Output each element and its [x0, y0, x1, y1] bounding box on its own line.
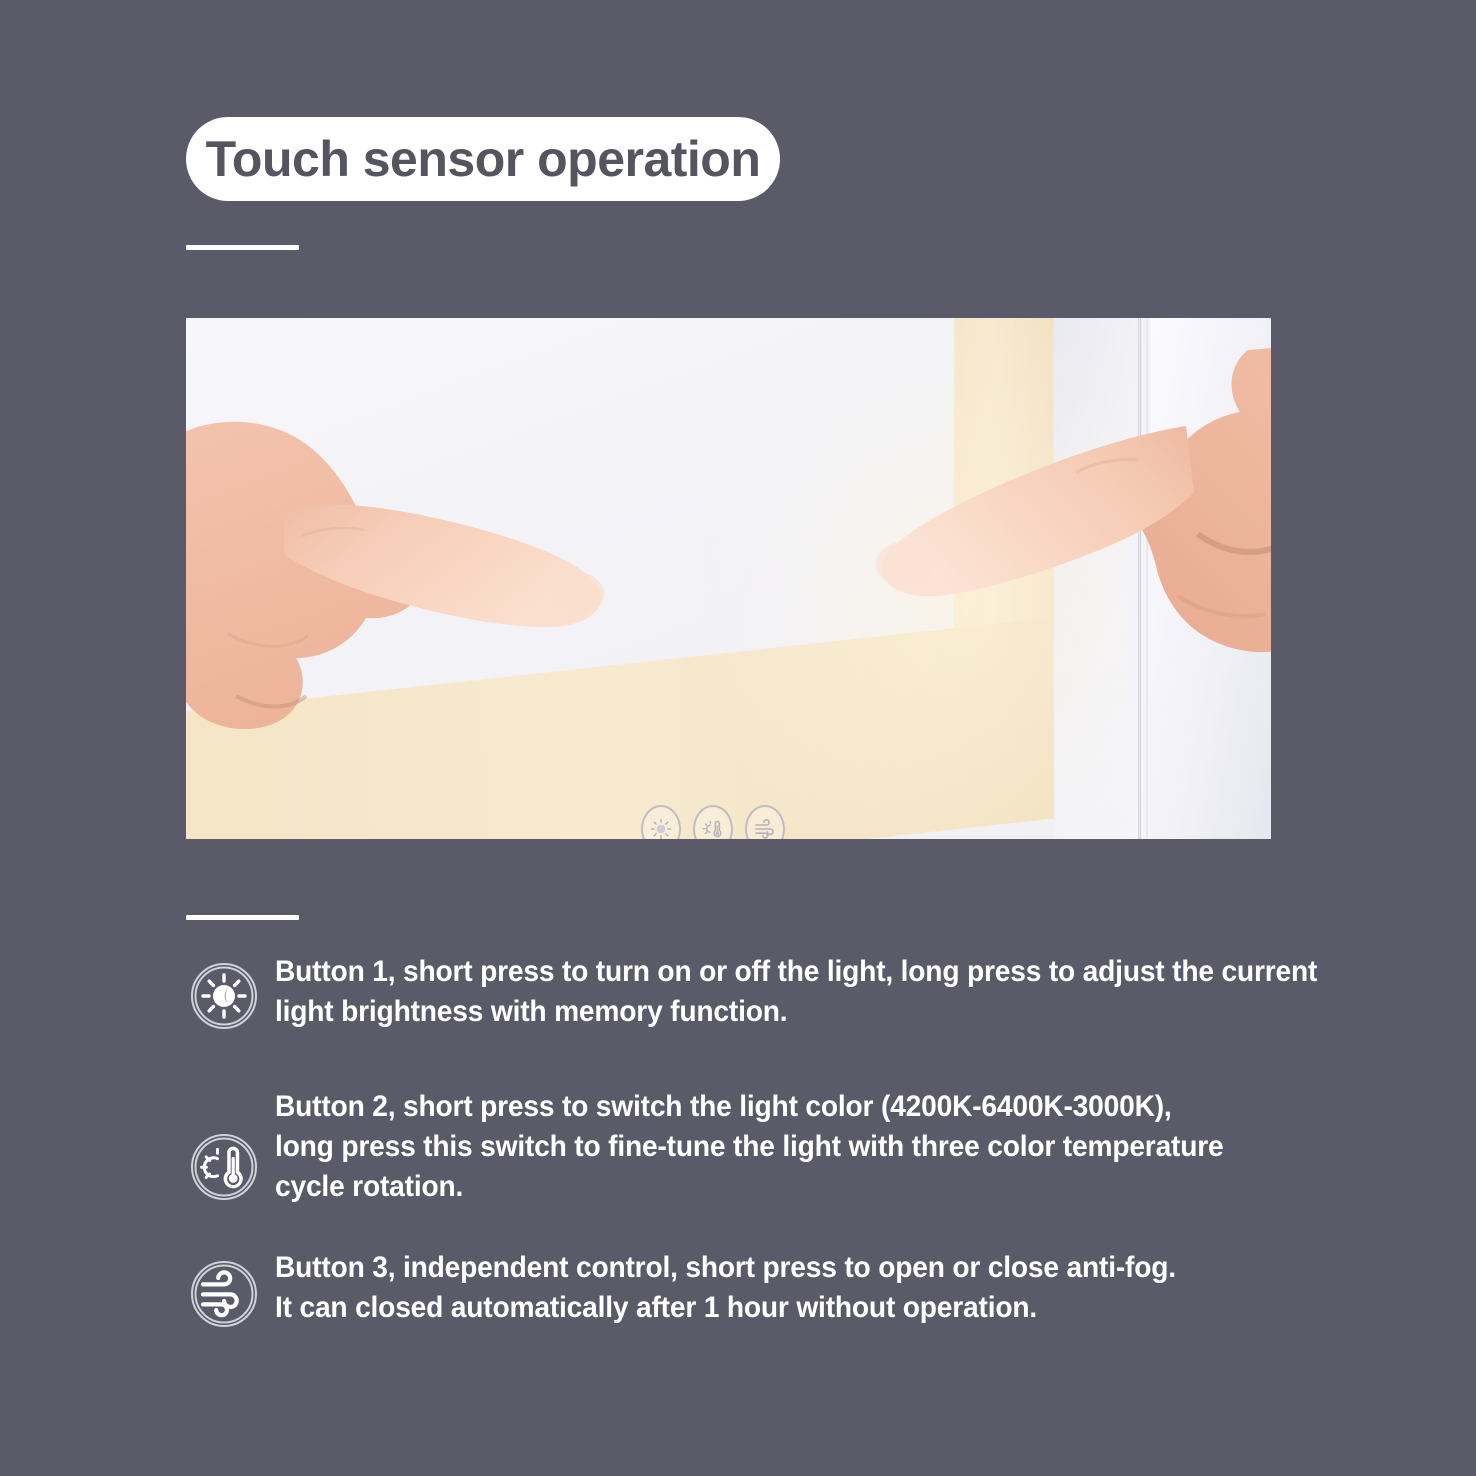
instruction-line: Button 1, short press to turn on or off … [275, 952, 1297, 992]
instruction-line: Button 2, short press to switch the ligh… [275, 1087, 1224, 1127]
instruction-line: Button 3, independent control, short pre… [275, 1248, 1176, 1288]
instruction-line: light brightness with memory function. [275, 992, 1297, 1032]
instruction-row-button-1: Button 1, short press to turn on or off … [186, 952, 1366, 1034]
anti-fog-wind-icon [753, 817, 777, 839]
divider-middle [186, 915, 299, 920]
color-temperature-icon [186, 1129, 262, 1205]
instruction-row-button-2: Button 2, short press to switch the ligh… [186, 1087, 1366, 1207]
right-hand-pointing [826, 346, 1271, 816]
product-photo [186, 318, 1271, 839]
instruction-line: It can closed automatically after 1 hour… [275, 1288, 1176, 1328]
page-title: Touch sensor operation [206, 134, 761, 184]
instruction-text-button-2: Button 2, short press to switch the ligh… [275, 1087, 1224, 1207]
brightness-sun-icon [649, 817, 673, 839]
brightness-sun-icon [186, 958, 262, 1034]
mirror-sensor-anti-fog[interactable] [745, 805, 785, 839]
divider-top [186, 245, 299, 250]
mirror-touch-sensor-row[interactable] [641, 805, 785, 839]
anti-fog-wind-icon [186, 1256, 262, 1332]
instruction-line: cycle rotation. [275, 1167, 1224, 1207]
product-info-page: Touch sensor operation [0, 0, 1476, 1476]
page-title-pill: Touch sensor operation [186, 117, 780, 201]
instruction-line: long press this switch to fine-tune the … [275, 1127, 1224, 1167]
instruction-text-button-1: Button 1, short press to turn on or off … [275, 952, 1297, 1032]
instruction-row-button-3: Button 3, independent control, short pre… [186, 1248, 1366, 1332]
left-hand-pointing [186, 396, 646, 816]
instruction-text-button-3: Button 3, independent control, short pre… [275, 1248, 1176, 1328]
mirror-sensor-color-temperature[interactable] [693, 805, 733, 839]
mirror-sensor-brightness[interactable] [641, 805, 681, 839]
color-temperature-icon [701, 817, 725, 839]
